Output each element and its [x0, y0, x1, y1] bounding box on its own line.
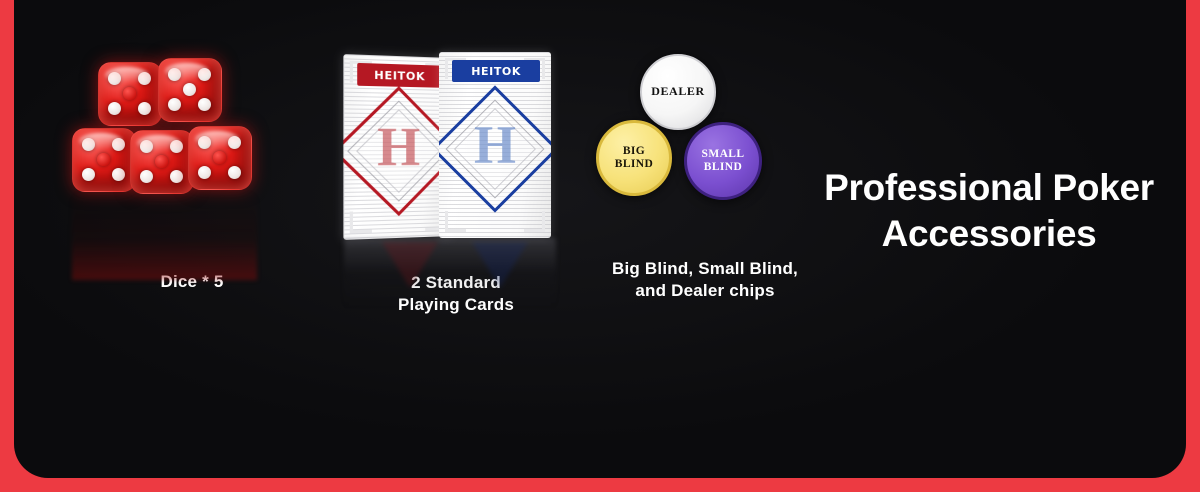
corner-ornament-icon	[445, 211, 466, 232]
die-pip	[108, 72, 121, 85]
card-box-blue: HEITOK H	[439, 52, 551, 238]
chip-big-blind: BIG BLIND	[596, 120, 672, 196]
die-pip	[138, 102, 151, 115]
die-pip	[112, 168, 125, 181]
die-pip	[108, 102, 121, 115]
die-pip	[228, 136, 241, 149]
chip-small-blind-label: SMALL BLIND	[702, 148, 745, 173]
dice-reflection	[72, 190, 257, 280]
die-pip	[112, 138, 125, 151]
banner-headline: Professional Poker Accessories	[804, 165, 1174, 257]
chip-big-blind-label: BIG BLIND	[615, 145, 653, 170]
monogram-red: H	[377, 115, 420, 179]
banner-stage: Dice * 5 HEITOK	[14, 0, 1186, 438]
die-top-right	[158, 58, 222, 122]
die-pip-center	[97, 153, 110, 166]
product-playing-cards: HEITOK H HEITOK	[336, 42, 576, 316]
die-pip	[170, 140, 183, 153]
product-chips: DEALER BIG BLIND SMALL BLIND Big Blind, …	[580, 48, 830, 302]
die-top-left	[98, 62, 162, 126]
monogram-blue: H	[474, 114, 516, 176]
banner-inner-frame: Dice * 5 HEITOK	[14, 0, 1186, 478]
die-pip	[198, 166, 211, 179]
corner-ornament-icon	[524, 211, 545, 232]
die-bottom-left	[72, 128, 136, 192]
die-bottom-right	[188, 126, 252, 190]
playing-cards-illustration: HEITOK H HEITOK	[336, 42, 576, 264]
caption-chips: Big Blind, Small Blind, and Dealer chips	[580, 258, 830, 302]
caption-dice: Dice * 5	[72, 271, 312, 293]
die-bottom-center	[130, 130, 194, 194]
dice-illustration	[72, 50, 312, 265]
brand-name: HEITOK	[471, 65, 521, 78]
die-pip	[168, 98, 181, 111]
die-pip	[183, 83, 196, 96]
chips-illustration: DEALER BIG BLIND SMALL BLIND	[580, 48, 830, 248]
card-box-red: HEITOK H	[343, 54, 452, 240]
die-pip	[82, 168, 95, 181]
die-pip	[170, 170, 183, 183]
product-dice: Dice * 5	[72, 50, 312, 293]
die-pip	[140, 140, 153, 153]
chip-small-blind: SMALL BLIND	[684, 122, 762, 200]
die-pip-center	[155, 155, 168, 168]
die-pip	[82, 138, 95, 151]
die-pip	[198, 68, 211, 81]
die-pip	[140, 170, 153, 183]
promo-banner: Dice * 5 HEITOK	[0, 0, 1200, 492]
chip-dealer-label: DEALER	[651, 85, 705, 98]
die-pip	[228, 166, 241, 179]
corner-ornament-icon	[350, 211, 372, 233]
brand-name: HEITOK	[374, 68, 425, 83]
die-pip-center	[213, 151, 226, 164]
die-pip	[198, 136, 211, 149]
die-pip-center	[123, 87, 136, 100]
die-pip	[138, 72, 151, 85]
die-pip	[168, 68, 181, 81]
brand-band-blue: HEITOK	[452, 60, 539, 82]
brand-band-red: HEITOK	[357, 63, 442, 88]
caption-playing-cards: 2 Standard Playing Cards	[336, 272, 576, 316]
chip-dealer: DEALER	[640, 54, 716, 130]
die-pip	[198, 98, 211, 111]
